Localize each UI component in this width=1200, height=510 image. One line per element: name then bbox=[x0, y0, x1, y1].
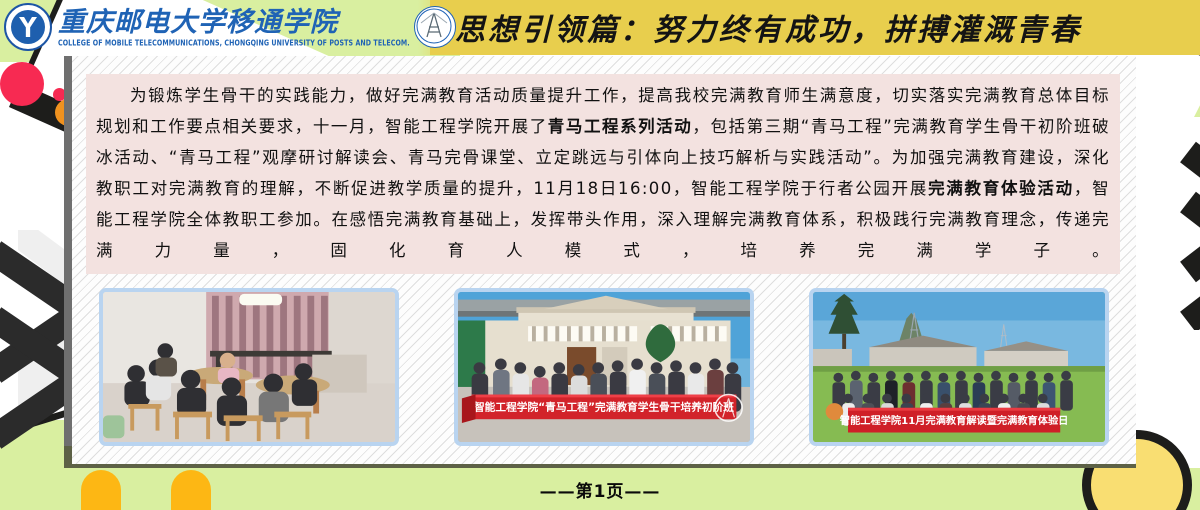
article-emphasis: 完满教育体验活动 bbox=[928, 179, 1074, 198]
article-paragraph: 为锻炼学生骨干的实践能力，做好完满教育活动质量提升工作，提高我校完满教育师生满意… bbox=[96, 80, 1110, 266]
page-title: 思想引领篇：努力终有成功，拼搏灌溉青春 bbox=[455, 2, 1200, 52]
institution-name-cn: 重庆邮电大学移通学院 bbox=[58, 9, 410, 36]
radio-tower-icon bbox=[414, 6, 456, 48]
institution-logo: 重庆邮电大学移通学院 COLLEGE OF MOBILE TELECOMMUNI… bbox=[4, 2, 456, 52]
svg-text:智能工程学院“青马工程”完满教育学生骨干培养初阶班: 智能工程学院“青马工程”完满教育学生骨干培养初阶班 bbox=[474, 401, 734, 414]
photo-group-outdoor-lawn[interactable]: 智能工程学院11月完满教育解读暨完满教育体验日 bbox=[809, 288, 1109, 446]
article-text-panel: 为锻炼学生骨干的实践能力，做好完满教育活动质量提升工作，提高我校完满教育师生满意… bbox=[86, 74, 1120, 274]
page-canvas: 重庆邮电大学移通学院 COLLEGE OF MOBILE TELECOMMUNI… bbox=[0, 0, 1200, 510]
photo-group-banner-qingma[interactable]: 智能工程学院“青马工程”完满教育学生骨干培养初阶班 bbox=[454, 288, 754, 446]
university-crest-icon bbox=[4, 3, 52, 51]
page-number: ——第1页—— bbox=[0, 477, 1200, 502]
decor-circle-pink bbox=[0, 62, 44, 106]
photo-indoor-seminar[interactable] bbox=[99, 288, 399, 446]
article-emphasis: 青马工程系列活动 bbox=[548, 117, 693, 136]
svg-text:智能工程学院11月完满教育解读暨完满教育体验日: 智能工程学院11月完满教育解读暨完满教育体验日 bbox=[840, 414, 1068, 427]
content-card: 为锻炼学生骨干的实践能力，做好完满教育活动质量提升工作，提高我校完满教育师生满意… bbox=[72, 56, 1136, 464]
institution-wordmark: 重庆邮电大学移通学院 COLLEGE OF MOBILE TELECOMMUNI… bbox=[58, 9, 410, 46]
photo-gallery: 智能工程学院“青马工程”完满教育学生骨干培养初阶班 bbox=[72, 288, 1136, 446]
institution-name-en: COLLEGE OF MOBILE TELECOMMUNICATIONS, CH… bbox=[58, 39, 410, 48]
